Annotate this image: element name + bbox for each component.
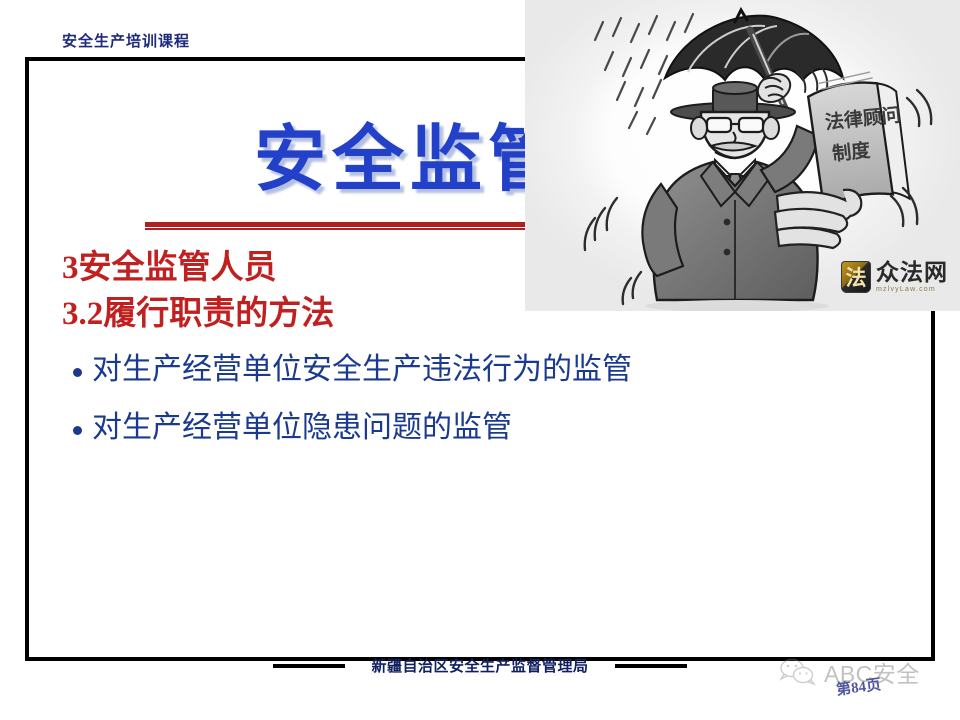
bullet-text: 对生产经营单位隐患问题的监管 — [92, 403, 512, 453]
section-number-3: 3 — [62, 250, 79, 286]
course-label: 安全生产培训课程 — [62, 30, 190, 51]
law-badge-icon — [841, 261, 871, 293]
logo-name: 众法网 — [876, 261, 948, 284]
watermark-label: ABC安全 — [824, 655, 920, 689]
footer-rule-right — [615, 664, 687, 668]
slide-canvas: 安全生产培训课程 安全监管 3安全监管人员 3.2履行职责的方法 对生产经营单位… — [0, 0, 960, 720]
section-title-3: 安全监管人员 — [79, 250, 277, 286]
source-logo: 众法网 mzlvyLaw.com — [841, 261, 948, 293]
footer-organization: 新疆自治区安全生产监督管理局 — [371, 655, 588, 676]
list-item: 对生产经营单位安全生产违法行为的监管 — [62, 345, 842, 395]
list-item: 对生产经营单位隐患问题的监管 — [62, 403, 842, 453]
logo-text-block: 众法网 mzlvyLaw.com — [876, 261, 948, 293]
section-title-3-2: 履行职责的方法 — [103, 296, 334, 332]
wechat-icon — [778, 657, 818, 687]
illustration-image: 法律顾问 制度 — [525, 0, 960, 311]
footer-rule-left — [273, 664, 345, 668]
section-number-3-2: 3.2 — [62, 296, 103, 332]
bullet-dot-icon — [62, 403, 92, 453]
bullet-dot-icon — [62, 345, 92, 395]
bullet-text: 对生产经营单位安全生产违法行为的监管 — [92, 345, 632, 395]
watermark: ABC安全 — [778, 655, 920, 689]
logo-domain: mzlvyLaw.com — [876, 286, 948, 293]
title-divider — [145, 222, 527, 230]
